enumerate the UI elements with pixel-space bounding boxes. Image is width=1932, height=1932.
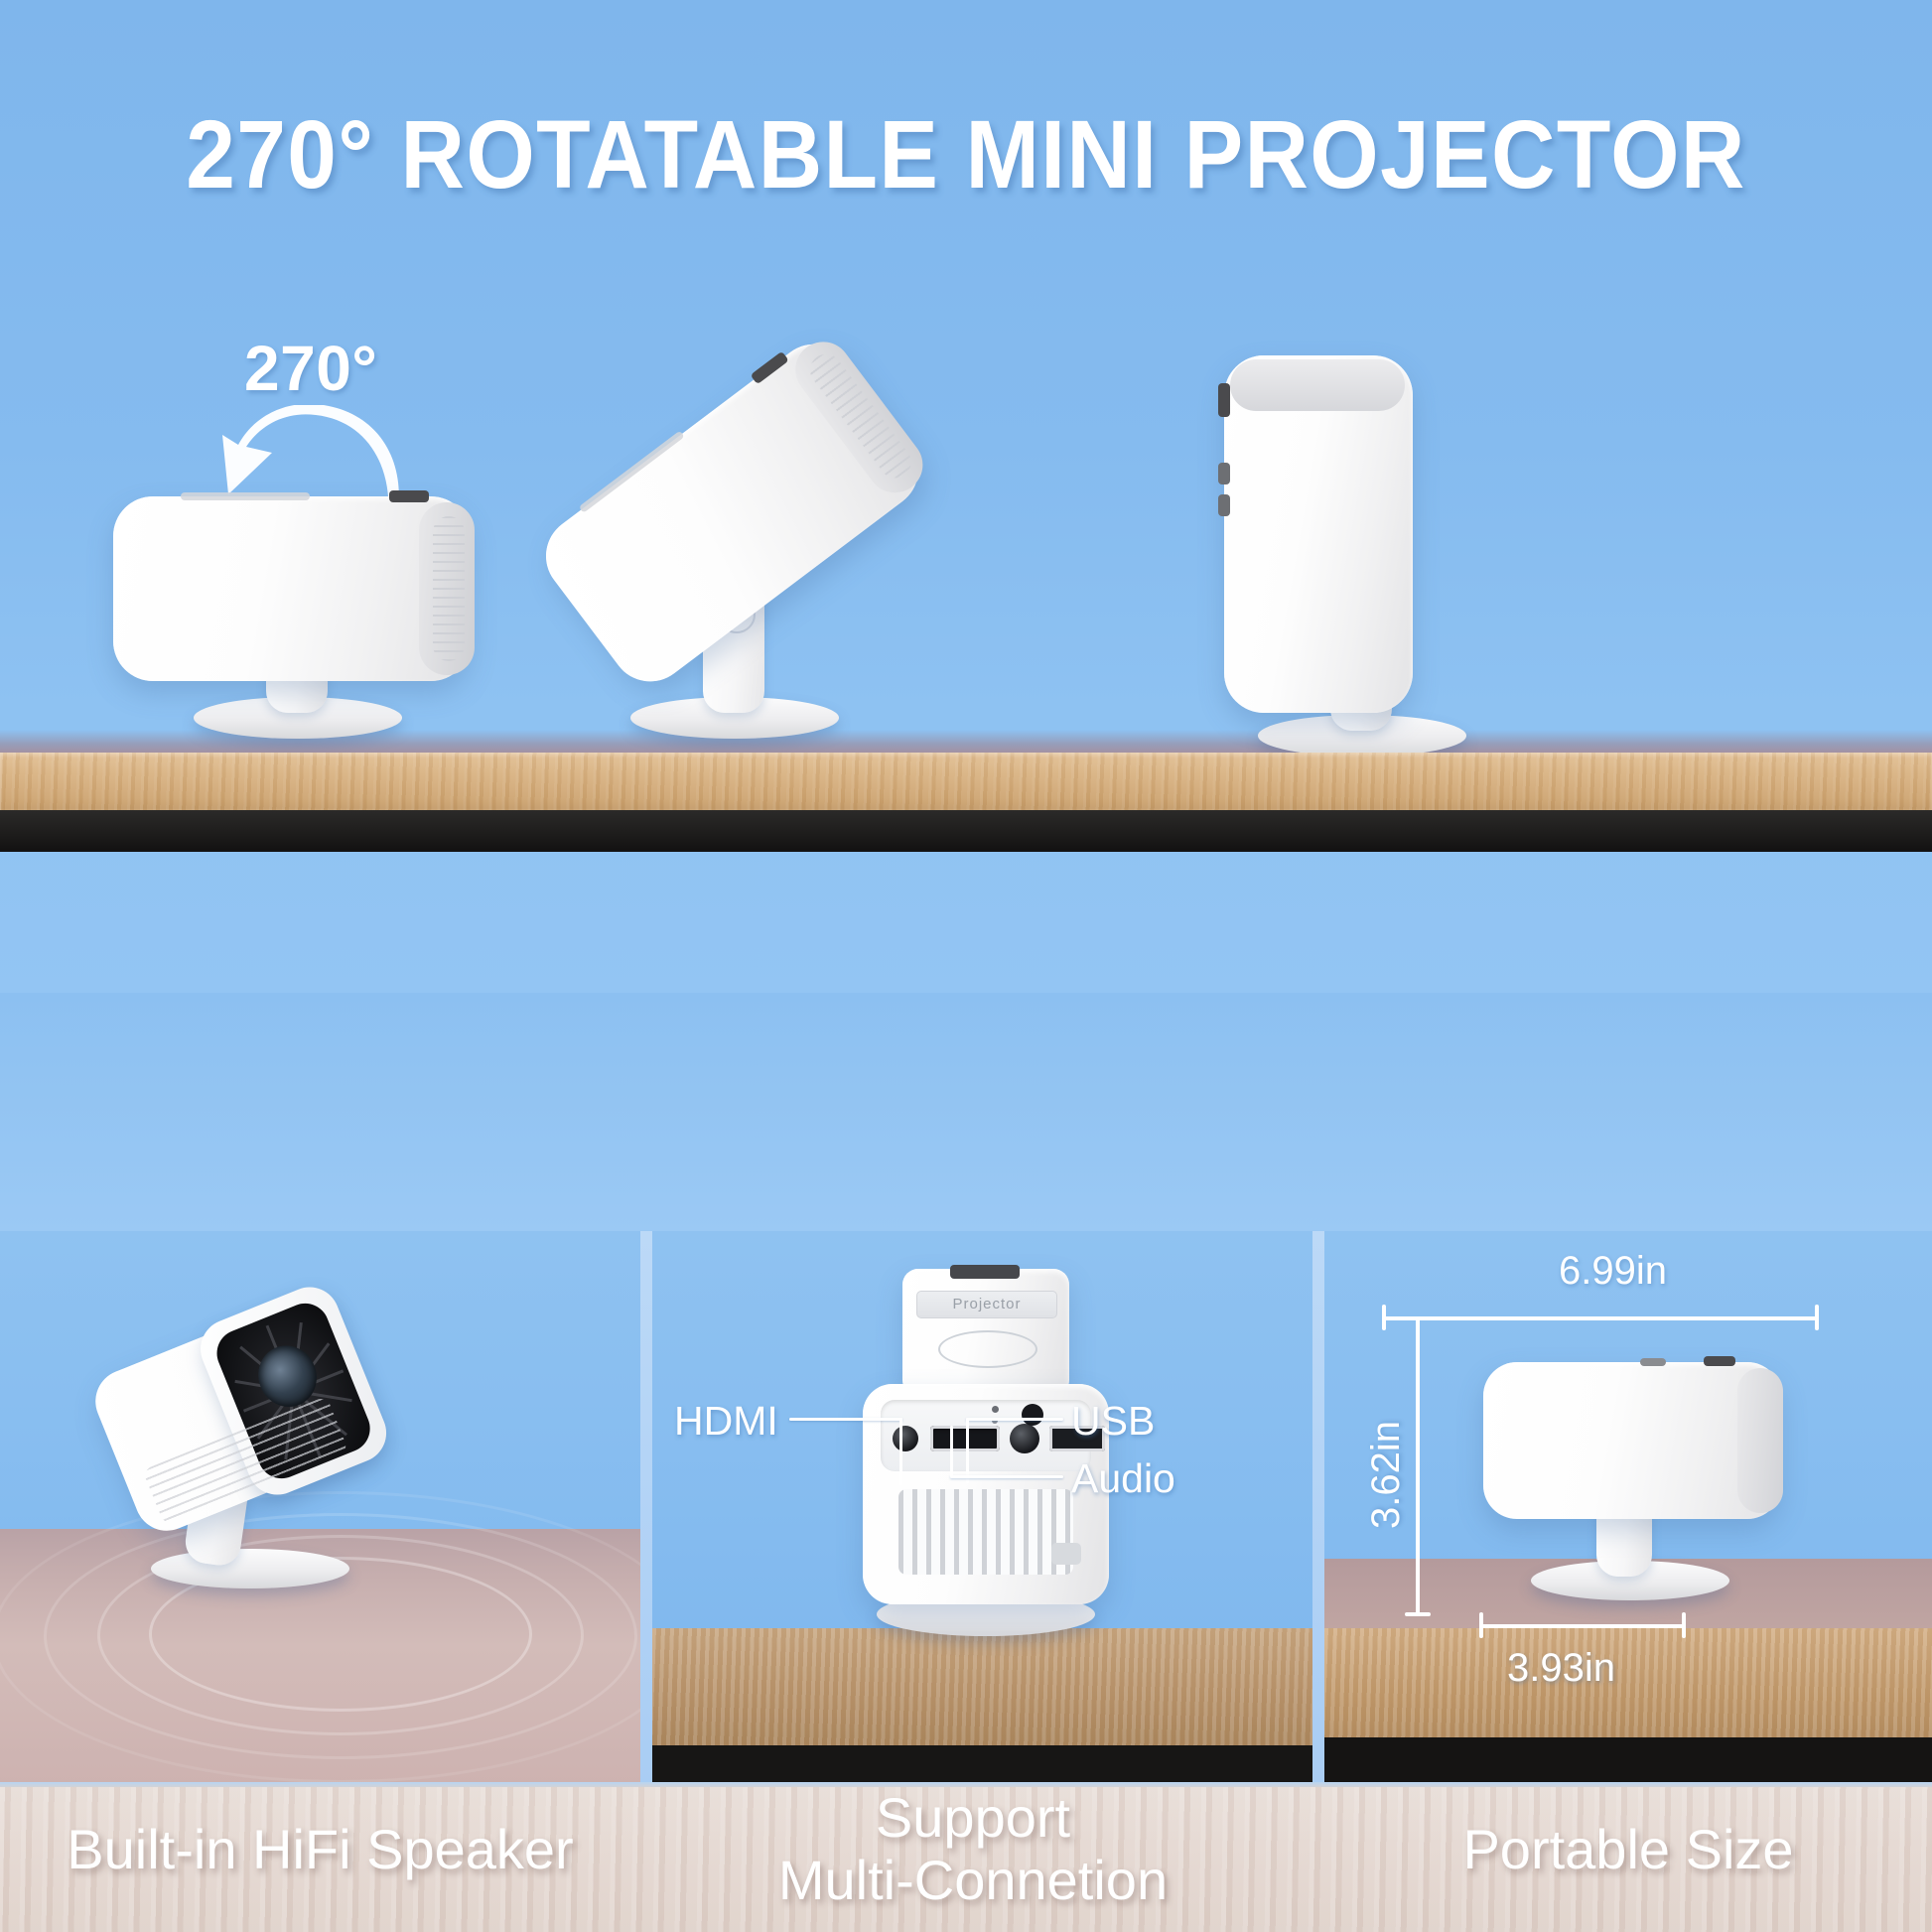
projector-side-view	[1473, 1350, 1811, 1608]
dimension-height-line	[1416, 1316, 1420, 1616]
rear-vent-grill	[898, 1489, 1073, 1575]
rear-label-plate	[1051, 1543, 1081, 1565]
caption-connection: Support Multi-Connetion	[596, 1787, 1350, 1911]
rotation-degree-label: 270°	[244, 332, 377, 405]
top-button-tab-2	[1640, 1358, 1666, 1366]
lens-end-cap	[1230, 359, 1405, 411]
dimension-height-cap-bottom	[1405, 1612, 1431, 1616]
hero-section: 270° ROTATABLE MINI PROJECTOR 270°	[0, 0, 1932, 993]
dimension-width-label: 6.99in	[1559, 1249, 1667, 1294]
tilted-body-group	[498, 272, 1023, 776]
top-seam	[181, 492, 310, 500]
projector-horizontal	[99, 477, 496, 764]
wood-shelf-top	[0, 753, 1932, 810]
caption-speaker: Built-in HiFi Speaker	[0, 1819, 640, 1881]
power-port-icon	[893, 1426, 918, 1451]
dimension-width-cap-right	[1815, 1305, 1819, 1330]
dimension-height-label: 3.62in	[1364, 1421, 1409, 1529]
callout-audio-leader-v	[950, 1426, 953, 1477]
side-button-tab-2	[1218, 463, 1230, 484]
top-button-tab	[950, 1265, 1020, 1279]
ir-receiver	[1022, 1404, 1043, 1426]
projector-front-view	[129, 1309, 457, 1636]
dimension-width-cap-left	[1382, 1305, 1386, 1330]
audio-jack-icon	[1010, 1424, 1039, 1453]
projector-body	[113, 496, 471, 681]
dimension-depth-line	[1479, 1624, 1686, 1628]
front-body-group	[69, 1242, 470, 1604]
callout-usb-label: USB	[1071, 1398, 1155, 1445]
hero-lower-background	[0, 993, 1932, 1231]
callout-hdmi-leader	[789, 1418, 902, 1421]
projector-body	[1483, 1362, 1781, 1519]
panel-divider-2	[1312, 1231, 1324, 1787]
callout-hdmi-leader-v	[899, 1418, 902, 1485]
dimension-height-cap-top	[1405, 1316, 1431, 1320]
wood-shelf-edge	[0, 810, 1932, 852]
brand-label: Projector	[916, 1291, 1057, 1318]
panel-connection: Projector HDMI	[652, 1231, 1312, 1787]
indicator-led	[992, 1406, 999, 1413]
callout-hdmi-label: HDMI	[674, 1398, 778, 1445]
top-button-tab	[389, 490, 429, 502]
wood-table-edge	[1324, 1737, 1932, 1787]
dimension-width-line	[1382, 1316, 1819, 1320]
projector-body	[530, 329, 934, 698]
callout-usb-leader	[966, 1418, 1063, 1421]
dimension-depth-label: 3.93in	[1507, 1646, 1615, 1691]
projector-tilted	[616, 377, 1033, 764]
wood-table-edge	[652, 1745, 1312, 1787]
callout-audio-leader	[950, 1475, 1063, 1478]
top-button-tab	[1704, 1356, 1735, 1366]
lens-end-cap	[1737, 1368, 1783, 1513]
caption-size: Portable Size	[1324, 1819, 1932, 1881]
wood-table-top	[1324, 1628, 1932, 1737]
page-title: 270° ROTATABLE MINI PROJECTOR	[77, 99, 1855, 210]
projector-vertical	[1206, 345, 1524, 762]
product-infographic: 270° ROTATABLE MINI PROJECTOR 270°	[0, 0, 1932, 1932]
dimension-depth-cap-left	[1479, 1612, 1483, 1638]
vent-grill	[433, 516, 465, 661]
hdmi-port-icon	[930, 1426, 1000, 1451]
callout-audio-label: Audio	[1071, 1455, 1175, 1502]
panel-size: 6.99in 3.62in 3.93in	[1324, 1231, 1932, 1787]
side-button-tab	[1218, 383, 1230, 417]
panel-speaker	[0, 1231, 640, 1787]
dimension-depth-cap-right	[1682, 1612, 1686, 1638]
panel-divider-1	[640, 1231, 652, 1787]
speaker-oval	[938, 1330, 1037, 1368]
callout-usb-leader-v	[966, 1418, 969, 1483]
side-button-tab-3	[1218, 494, 1230, 516]
